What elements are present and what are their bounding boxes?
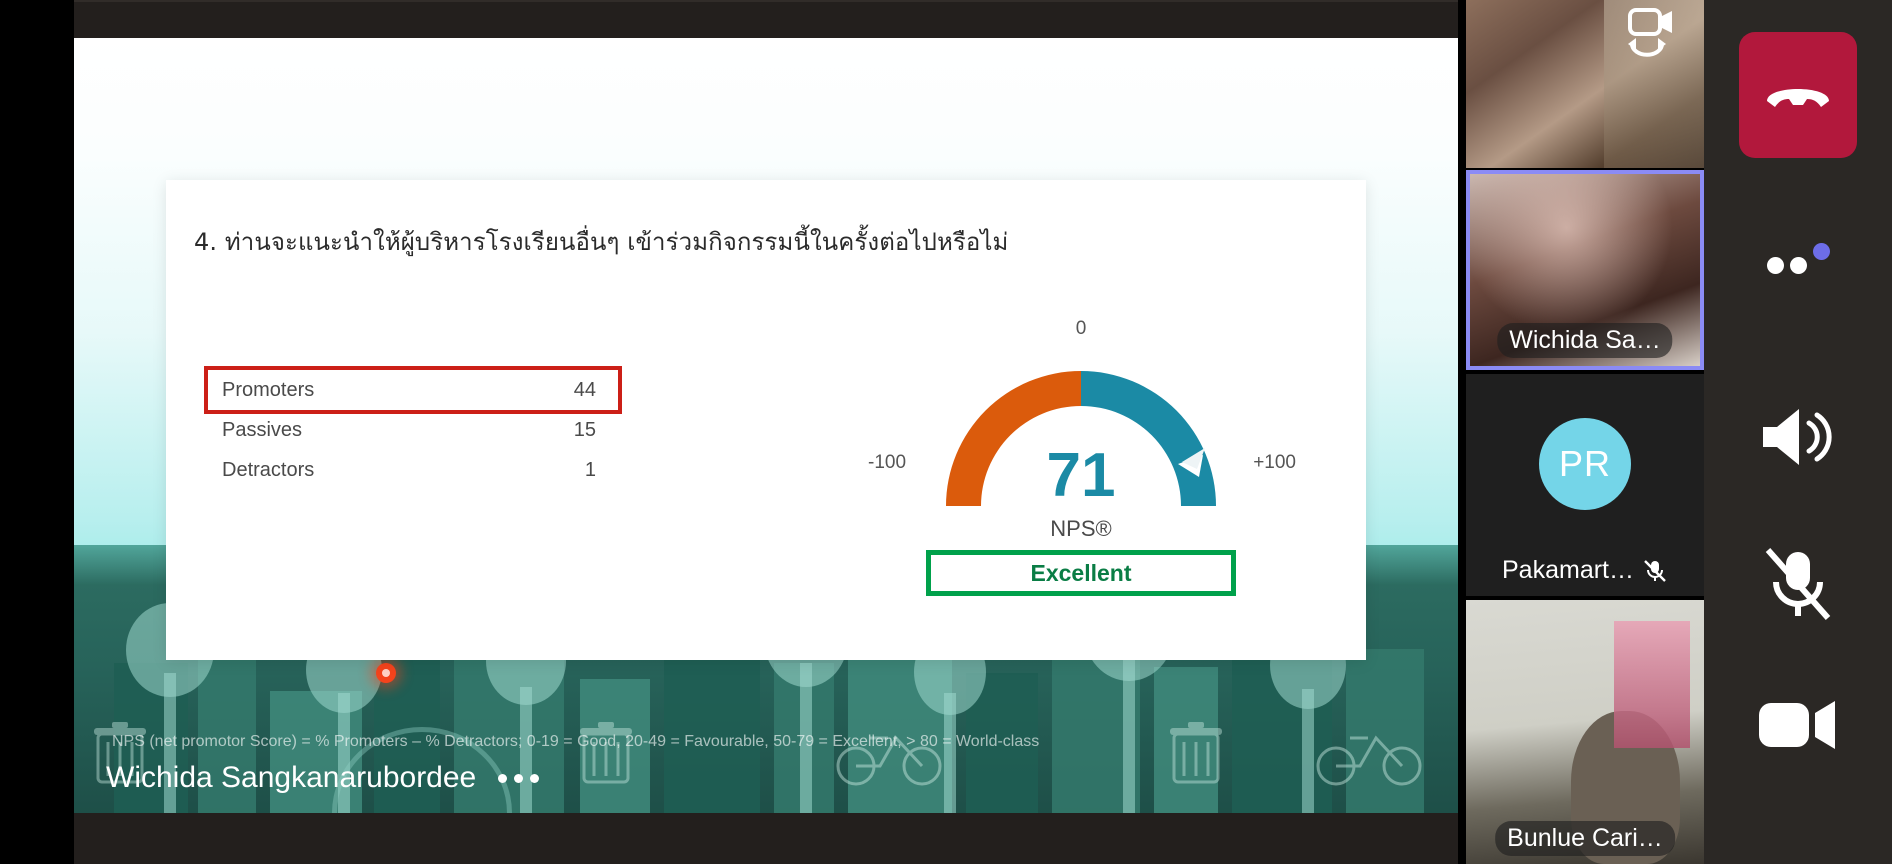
nps-gauge: 0 -100 +100 71 NPS® Excellent xyxy=(866,320,1296,630)
participant-name: Bunlue Cari… xyxy=(1495,821,1675,856)
notification-dot-icon xyxy=(1813,243,1830,260)
map-marker-dot xyxy=(376,663,396,683)
screen-share-topbar xyxy=(74,0,1458,38)
participant-tile[interactable]: Wichida Sa… xyxy=(1466,170,1704,370)
row-label: Passives xyxy=(222,419,302,442)
table-row: Promoters 44 xyxy=(208,370,618,410)
participant-filmstrip: Wichida Sa… PR Pakamart… Bunlue Cari… xyxy=(1466,0,1704,864)
gauge-value: 71 xyxy=(866,440,1296,511)
gauge-tick-zero: 0 xyxy=(866,318,1296,340)
microphone-button[interactable] xyxy=(1761,546,1835,622)
row-value: 15 xyxy=(574,419,596,442)
slide-content-card: 4. ท่านจะแนะนำให้ผู้บริหารโรงเรียนอื่นๆ … xyxy=(166,180,1366,660)
row-label: Detractors xyxy=(222,459,314,482)
presenter-overlay[interactable]: Wichida Sangkanarubordee xyxy=(106,761,539,795)
verdict-badge: Excellent xyxy=(926,550,1236,596)
more-options-button[interactable] xyxy=(1753,242,1843,288)
microphone-muted-icon xyxy=(1762,546,1834,622)
call-controls-rail xyxy=(1704,0,1892,864)
dot-icon xyxy=(1767,257,1784,274)
presenter-name: Wichida Sangkanarubordee xyxy=(106,761,476,795)
microphone-muted-icon xyxy=(1642,558,1668,584)
participant-tile[interactable]: Bunlue Cari… xyxy=(1466,600,1704,864)
row-value: 1 xyxy=(585,459,596,482)
dot-icon xyxy=(1790,257,1807,274)
video-camera-icon xyxy=(1757,695,1839,753)
row-label: Promoters xyxy=(222,379,314,402)
verdict-text: Excellent xyxy=(1031,560,1132,587)
video-call-screen: 4. ท่านจะแนะนำให้ผู้บริหารโรงเรียนอื่นๆ … xyxy=(0,0,1892,864)
participant-name: Pakamart… xyxy=(1490,553,1680,588)
nps-breakdown-table: Promoters 44 Passives 15 Detractors 1 xyxy=(208,370,618,490)
participant-tile-self[interactable] xyxy=(1466,0,1704,168)
shared-screen-stage[interactable]: 4. ท่านจะแนะนำให้ผู้บริหารโรงเรียนอื่นๆ … xyxy=(74,0,1458,864)
speaker-button[interactable] xyxy=(1758,404,1838,470)
topbar-hairline xyxy=(74,0,1458,2)
end-call-button[interactable] xyxy=(1739,32,1857,158)
presentation-slide: 4. ท่านจะแนะนำให้ผู้บริหารโรงเรียนอื่นๆ … xyxy=(74,38,1458,813)
speaker-on-icon xyxy=(1759,405,1837,469)
camera-button[interactable] xyxy=(1757,692,1839,756)
participant-name: Wichida Sa… xyxy=(1497,323,1672,358)
table-row: Passives 15 xyxy=(208,410,618,450)
avatar: PR xyxy=(1539,418,1631,510)
phone-hangup-icon xyxy=(1763,79,1833,111)
flip-camera-icon[interactable] xyxy=(1622,4,1678,65)
more-options-icon[interactable] xyxy=(498,774,539,783)
slide-question-text: 4. ท่านจะแนะนำให้ผู้บริหารโรงเรียนอื่นๆ … xyxy=(194,222,1336,261)
table-row: Detractors 1 xyxy=(208,450,618,490)
participant-tile[interactable]: PR Pakamart… xyxy=(1466,374,1704,596)
nps-label: NPS® xyxy=(866,516,1296,542)
nps-formula-footnote: NPS (net promotor Score) = % Promoters –… xyxy=(112,733,1428,751)
participant-name-text: Pakamart… xyxy=(1502,556,1634,585)
row-value: 44 xyxy=(574,379,596,402)
